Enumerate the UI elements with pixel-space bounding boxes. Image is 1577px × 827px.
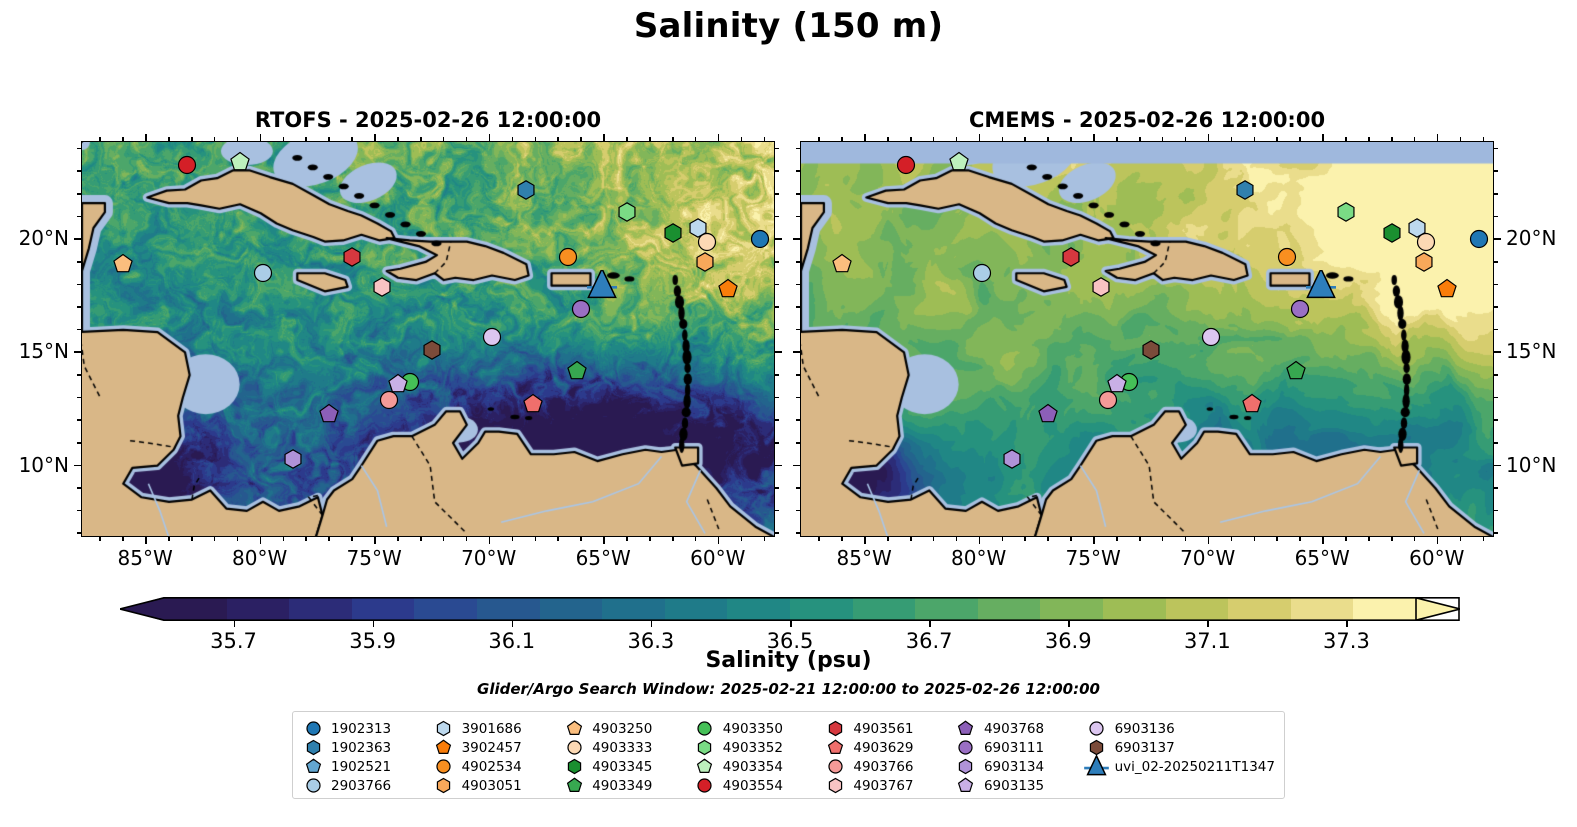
axis-tick <box>1047 537 1049 541</box>
axis-tick <box>77 397 81 399</box>
colorbar-segment <box>853 597 916 621</box>
float-marker-icon <box>955 738 977 757</box>
axis-tick <box>933 537 935 541</box>
axis-tick <box>305 137 307 141</box>
float-marker[interactable] <box>971 263 992 284</box>
axis-tick <box>466 537 468 541</box>
search-window-text: Glider/Argo Search Window: 2025-02-21 12… <box>0 680 1577 698</box>
legend-item[interactable]: 4903350 <box>694 719 825 738</box>
legend-item-label: 4903561 <box>853 721 913 737</box>
axis-tick <box>626 137 628 141</box>
float-marker-icon <box>433 738 455 757</box>
axis-tick <box>1494 306 1498 308</box>
x-axis-label: 75°W <box>347 546 402 570</box>
float-marker[interactable] <box>372 276 393 297</box>
axis-tick <box>1254 537 1256 541</box>
float-marker[interactable] <box>1436 279 1457 300</box>
axis-tick <box>1322 537 1324 544</box>
axis-tick <box>672 137 674 141</box>
axis-tick <box>122 137 124 141</box>
float-marker[interactable] <box>1200 326 1221 347</box>
float-marker-layer-cmems[interactable] <box>801 142 1493 536</box>
colorbar-gradient <box>164 597 1416 621</box>
axis-tick <box>1391 537 1393 541</box>
axis-tick <box>77 170 81 172</box>
float-marker[interactable] <box>1001 448 1022 469</box>
axis-tick <box>1231 537 1233 541</box>
legend-item[interactable]: 4903561 <box>824 719 955 738</box>
axis-tick <box>1276 137 1278 141</box>
colorbar-segment <box>1353 597 1416 621</box>
axis-tick <box>1494 419 1498 421</box>
axis-tick <box>718 134 720 141</box>
float-marker[interactable] <box>1285 360 1306 381</box>
float-marker[interactable] <box>1235 179 1256 200</box>
float-marker[interactable] <box>342 247 363 268</box>
legend-item[interactable]: 1902313 <box>302 719 433 738</box>
axis-tick <box>260 537 262 544</box>
colorbar-segment <box>1166 597 1229 621</box>
axis-tick <box>956 537 958 541</box>
legend-item[interactable]: 2903766 <box>302 776 433 795</box>
axis-tick <box>1299 137 1301 141</box>
legend-item-label: 1902313 <box>331 721 391 737</box>
legend-item[interactable]: 4903349 <box>563 776 694 795</box>
legend-item[interactable]: 3902457 <box>433 738 564 757</box>
axis-tick <box>1002 537 1004 541</box>
colorbar-tick <box>929 621 931 627</box>
float-marker[interactable] <box>1091 276 1112 297</box>
float-marker-icon <box>563 738 585 757</box>
colorbar-segment <box>164 597 227 621</box>
colorbar-extend-high <box>1416 597 1460 621</box>
float-marker[interactable] <box>422 340 443 361</box>
axis-tick <box>695 137 697 141</box>
axis-tick <box>1070 137 1072 141</box>
x-axis-label: 65°W <box>576 546 631 570</box>
legend-item[interactable]: 4903354 <box>694 757 825 776</box>
axis-tick <box>77 442 81 444</box>
axis-tick <box>796 284 800 286</box>
axis-tick <box>1116 137 1118 141</box>
map-panel-rtofs[interactable]: RTOFS - 2025-02-26 12:00:00 85°W80°W75°W… <box>81 141 775 537</box>
float-marker[interactable] <box>378 389 399 410</box>
axis-tick <box>74 465 81 467</box>
colorbar-segment <box>602 597 665 621</box>
float-marker[interactable] <box>1097 389 1118 410</box>
axis-tick <box>1494 351 1501 353</box>
legend-item-label: 4903352 <box>723 740 783 756</box>
axis-tick <box>775 487 779 489</box>
axis-tick <box>283 137 285 141</box>
x-axis-label: 60°W <box>690 546 745 570</box>
axis-tick <box>1093 537 1095 544</box>
axis-tick <box>1139 537 1141 541</box>
x-axis-label: 80°W <box>232 546 287 570</box>
float-marker-icon <box>433 719 455 738</box>
legend-item[interactable]: 6903136 <box>1086 719 1275 738</box>
legend-item[interactable]: 6903134 <box>955 757 1086 776</box>
map-frame-rtofs[interactable] <box>81 141 775 537</box>
legend-item-label: 4903768 <box>984 721 1044 737</box>
map-frame-cmems[interactable] <box>800 141 1494 537</box>
axis-tick <box>841 537 843 541</box>
float-marker[interactable] <box>1336 202 1357 223</box>
axis-tick <box>796 510 800 512</box>
float-marker-icon <box>1086 719 1108 738</box>
axis-tick <box>305 537 307 541</box>
float-marker[interactable] <box>566 360 587 381</box>
axis-tick <box>933 137 935 141</box>
colorbar-segment <box>915 597 978 621</box>
axis-tick <box>793 465 800 467</box>
float-marker[interactable] <box>749 229 770 250</box>
float-marker[interactable] <box>1416 231 1437 252</box>
float-marker-icon <box>694 719 716 738</box>
axis-tick <box>512 537 514 541</box>
axis-tick <box>818 537 820 541</box>
axis-tick <box>489 537 491 544</box>
axis-tick <box>374 537 376 544</box>
float-marker[interactable] <box>694 251 715 272</box>
axis-tick <box>818 137 820 141</box>
float-marker-icon <box>563 757 585 776</box>
axis-tick <box>1494 193 1498 195</box>
float-marker[interactable] <box>662 222 683 243</box>
legend-item-label: 6903135 <box>984 778 1044 794</box>
axis-tick <box>672 537 674 541</box>
axis-tick <box>122 537 124 541</box>
legend-item-label: 1902363 <box>331 740 391 756</box>
axis-tick <box>1322 134 1324 141</box>
axis-tick <box>956 137 958 141</box>
float-marker-icon <box>955 719 977 738</box>
float-marker[interactable] <box>516 179 537 200</box>
axis-tick <box>796 374 800 376</box>
legend-item-label: 4903250 <box>592 721 652 737</box>
axis-tick <box>775 419 779 421</box>
legend-item-label: 4903051 <box>462 778 522 794</box>
axis-tick <box>77 419 81 421</box>
float-marker-icon <box>824 757 846 776</box>
legend-item-label: 4903354 <box>723 759 783 775</box>
legend-item-label: 2903766 <box>331 778 391 794</box>
legend-item[interactable]: 6903135 <box>955 776 1086 795</box>
axis-tick <box>1024 137 1026 141</box>
float-marker-icon <box>955 757 977 776</box>
axis-tick <box>775 170 779 172</box>
colorbar-tick <box>1346 621 1348 627</box>
float-marker-icon <box>433 757 455 776</box>
axis-tick <box>741 537 743 541</box>
x-axis-label: 75°W <box>1066 546 1121 570</box>
legend-item[interactable]: 4903629 <box>824 738 955 757</box>
legend-item[interactable]: 4903352 <box>694 738 825 757</box>
axis-tick <box>74 351 81 353</box>
axis-tick <box>397 537 399 541</box>
axis-tick <box>775 374 779 376</box>
axis-tick <box>1494 465 1501 467</box>
float-marker[interactable] <box>481 326 502 347</box>
float-marker-icon <box>694 757 716 776</box>
axis-tick <box>77 487 81 489</box>
legend-item-label: 6903136 <box>1115 721 1175 737</box>
axis-tick <box>979 537 981 544</box>
axis-tick <box>74 238 81 240</box>
axis-tick <box>351 137 353 141</box>
axis-tick <box>864 537 866 544</box>
axis-tick <box>1093 134 1095 141</box>
axis-tick <box>796 487 800 489</box>
y-axis-label: 20°N <box>19 226 69 250</box>
float-marker[interactable] <box>113 254 134 275</box>
x-axis-label: 60°W <box>1409 546 1464 570</box>
axis-tick <box>283 537 285 541</box>
float-marker[interactable] <box>949 152 970 173</box>
axis-tick <box>191 137 193 141</box>
float-marker-icon <box>694 776 716 795</box>
legend-item-label: 6903134 <box>984 759 1044 775</box>
colorbar-segment <box>1291 597 1354 621</box>
legend-item-label: 4903554 <box>723 778 783 794</box>
axis-tick <box>1185 137 1187 141</box>
axis-tick <box>910 537 912 541</box>
float-marker-icon <box>563 719 585 738</box>
axis-tick <box>1437 134 1439 141</box>
axis-tick <box>99 137 101 141</box>
axis-tick <box>1368 537 1370 541</box>
axis-tick <box>793 238 800 240</box>
legend-item[interactable]: 3901686 <box>433 719 564 738</box>
colorbar[interactable]: 35.735.936.136.336.536.736.937.137.3 <box>120 597 1460 621</box>
colorbar-segment <box>477 597 540 621</box>
colorbar-segment <box>665 597 728 621</box>
axis-tick <box>796 329 800 331</box>
axis-tick <box>796 261 800 263</box>
axis-tick <box>1391 137 1393 141</box>
axis-tick <box>1208 537 1210 544</box>
axis-tick <box>145 537 147 544</box>
glider-icon <box>1086 757 1108 776</box>
colorbar-segment <box>289 597 352 621</box>
axis-tick <box>77 510 81 512</box>
legend-grid: 1902313190236319025212903766390168639024… <box>302 719 1275 795</box>
axis-tick <box>796 170 800 172</box>
axis-tick <box>775 238 782 240</box>
axis-tick <box>775 193 779 195</box>
legend-item[interactable]: 6903137 <box>1086 738 1275 757</box>
axis-tick <box>535 137 537 141</box>
axis-tick <box>1185 537 1187 541</box>
axis-tick <box>718 537 720 544</box>
axis-tick <box>374 134 376 141</box>
legend-item[interactable]: 4903051 <box>433 776 564 795</box>
axis-tick <box>77 329 81 331</box>
axis-tick <box>443 537 445 541</box>
axis-tick <box>1494 216 1498 218</box>
legend-item-label: 4903766 <box>853 759 913 775</box>
colorbar-segment <box>227 597 290 621</box>
axis-tick <box>796 148 800 150</box>
legend-item[interactable]: 1902363 <box>302 738 433 757</box>
colorbar-tick <box>1068 621 1070 627</box>
float-marker[interactable] <box>697 231 718 252</box>
float-marker[interactable] <box>832 254 853 275</box>
axis-tick <box>796 306 800 308</box>
axis-tick <box>557 137 559 141</box>
legend-item-label: 4903349 <box>592 778 652 794</box>
axis-tick <box>1162 137 1164 141</box>
axis-tick <box>649 537 651 541</box>
axis-tick <box>1483 137 1485 141</box>
axis-tick <box>77 193 81 195</box>
float-marker[interactable] <box>617 202 638 223</box>
legend-item-label: 1902521 <box>331 759 391 775</box>
colorbar-segment <box>414 597 477 621</box>
axis-tick <box>1460 537 1462 541</box>
axis-tick <box>466 137 468 141</box>
float-marker-icon <box>955 776 977 795</box>
axis-tick <box>796 193 800 195</box>
axis-tick <box>793 351 800 353</box>
colorbar-tick <box>512 621 514 627</box>
glider-marker[interactable] <box>1306 270 1336 304</box>
float-marker[interactable] <box>523 394 544 415</box>
axis-tick <box>1483 537 1485 541</box>
axis-tick <box>77 148 81 150</box>
float-marker[interactable] <box>1468 229 1489 250</box>
float-marker[interactable] <box>319 403 340 424</box>
axis-tick <box>775 351 782 353</box>
axis-tick <box>77 306 81 308</box>
axis-tick <box>328 137 330 141</box>
axis-tick <box>1368 137 1370 141</box>
float-marker-icon <box>694 738 716 757</box>
legend-item[interactable]: 4902534 <box>433 757 564 776</box>
legend-item[interactable]: 4903250 <box>563 719 694 738</box>
float-marker[interactable] <box>717 279 738 300</box>
float-marker[interactable] <box>1276 247 1297 268</box>
axis-tick <box>796 442 800 444</box>
legend-item[interactable]: uvi_02-20250211T1347 <box>1086 757 1275 776</box>
axis-tick <box>775 510 779 512</box>
legend-item[interactable]: 6903111 <box>955 738 1086 757</box>
axis-tick <box>887 537 889 541</box>
colorbar-segment <box>1040 597 1103 621</box>
float-marker[interactable] <box>1381 222 1402 243</box>
colorbar-segment <box>727 597 790 621</box>
float-marker[interactable] <box>230 152 251 173</box>
axis-tick <box>489 134 491 141</box>
axis-tick <box>1494 261 1498 263</box>
glider-marker[interactable] <box>587 270 617 304</box>
axis-tick <box>535 537 537 541</box>
legend-item[interactable]: 4903333 <box>563 738 694 757</box>
y-axis-label: 15°N <box>19 339 69 363</box>
float-marker[interactable] <box>1038 403 1059 424</box>
legend-item[interactable]: 4903554 <box>694 776 825 795</box>
colorbar-tick <box>373 621 375 627</box>
legend-item-label: 4903345 <box>592 759 652 775</box>
axis-tick <box>1299 537 1301 541</box>
axis-tick <box>260 134 262 141</box>
x-axis-label: 70°W <box>1180 546 1235 570</box>
float-marker[interactable] <box>557 247 578 268</box>
float-marker[interactable] <box>1061 247 1082 268</box>
axis-tick <box>580 137 582 141</box>
y-axis-label: 20°N <box>1506 226 1556 250</box>
float-marker[interactable] <box>252 263 273 284</box>
legend-item[interactable]: 4903766 <box>824 757 955 776</box>
axis-tick <box>603 537 605 544</box>
axis-tick <box>1139 137 1141 141</box>
colorbar-label: Salinity (psu) <box>0 648 1577 673</box>
axis-tick <box>979 134 981 141</box>
x-axis-label: 80°W <box>951 546 1006 570</box>
axis-tick <box>775 148 779 150</box>
axis-tick <box>1494 442 1498 444</box>
axis-tick <box>775 261 779 263</box>
axis-tick <box>214 137 216 141</box>
axis-tick <box>168 137 170 141</box>
axis-tick <box>77 284 81 286</box>
axis-tick <box>910 137 912 141</box>
colorbar-extend-low <box>120 597 164 621</box>
colorbar-segment <box>1103 597 1166 621</box>
axis-tick <box>1254 137 1256 141</box>
legend-item-label: uvi_02-20250211T1347 <box>1115 759 1275 775</box>
float-marker[interactable] <box>282 448 303 469</box>
float-marker[interactable] <box>1413 251 1434 272</box>
legend-item[interactable]: 4903345 <box>563 757 694 776</box>
legend-item-label: 4903629 <box>853 740 913 756</box>
axis-tick <box>1024 537 1026 541</box>
legend-item[interactable]: 4903768 <box>955 719 1086 738</box>
y-axis-label: 15°N <box>1506 339 1556 363</box>
axis-tick <box>775 216 779 218</box>
axis-tick <box>77 261 81 263</box>
float-marker-layer-rtofs[interactable] <box>82 142 774 536</box>
panel-title-cmems: CMEMS - 2025-02-26 12:00:00 <box>800 108 1494 132</box>
float-marker[interactable] <box>896 154 917 175</box>
float-marker[interactable] <box>177 154 198 175</box>
axis-tick <box>775 532 779 534</box>
axis-tick <box>626 537 628 541</box>
float-marker-icon <box>824 738 846 757</box>
axis-tick <box>796 216 800 218</box>
map-panel-cmems[interactable]: CMEMS - 2025-02-26 12:00:00 85°W80°W75°W… <box>800 141 1494 537</box>
float-marker[interactable] <box>1141 340 1162 361</box>
float-marker-icon <box>302 776 324 795</box>
axis-tick <box>649 137 651 141</box>
float-marker-icon <box>824 776 846 795</box>
x-axis-label: 70°W <box>461 546 516 570</box>
colorbar-tick <box>1207 621 1209 627</box>
float-marker-icon <box>302 738 324 757</box>
axis-tick <box>864 134 866 141</box>
axis-tick <box>764 137 766 141</box>
legend-item[interactable]: 4903767 <box>824 776 955 795</box>
axis-tick <box>695 537 697 541</box>
axis-tick <box>191 537 193 541</box>
colorbar-tick <box>790 621 792 627</box>
axis-tick <box>1494 148 1498 150</box>
axis-tick <box>1047 137 1049 141</box>
axis-tick <box>775 397 779 399</box>
legend-item[interactable]: 1902521 <box>302 757 433 776</box>
float-marker[interactable] <box>1242 394 1263 415</box>
float-legend[interactable]: 1902313190236319025212903766390168639024… <box>292 711 1285 799</box>
